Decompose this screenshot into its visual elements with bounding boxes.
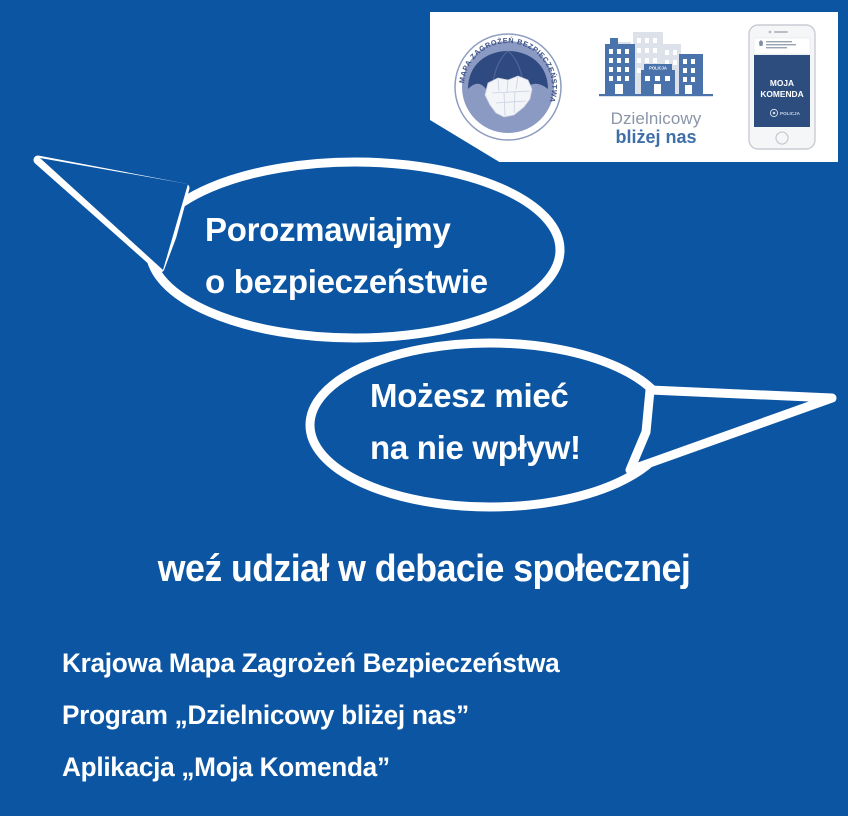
krajowa-mapa-zagrozen-logo: KRAJOWA MAPA ZAGROŻEŃ BEZPIECZEŃSTWA <box>452 31 564 143</box>
phone-title-line1: MOJA <box>770 78 794 88</box>
moja-komenda-phone: MOJA KOMENDA POLICJA <box>748 24 818 150</box>
dzielnicowy-blizej-nas-logo: POLICJA Dzielnicowy bliżej nas <box>595 24 717 150</box>
bubble-2-line2: na nie wpływ! <box>370 422 581 474</box>
program-item-2: Program „Dzielnicowy bliżej nas” <box>62 689 741 741</box>
headline: weź udział w debacie społecznej <box>25 548 822 591</box>
city-buildings-icon: POLICJA <box>597 24 715 108</box>
program-item-1: Krajowa Mapa Zagrożeń Bezpieczeństwa <box>62 637 741 689</box>
bubble-2-text: Możesz mieć na nie wpływ! <box>370 370 581 474</box>
logo-banner-content: KRAJOWA MAPA ZAGROŻEŃ BEZPIECZEŃSTWA <box>438 18 832 156</box>
program-item-3: Aplikacja „Moja Komenda” <box>62 741 741 793</box>
bubble-2-line1: Możesz mieć <box>370 370 581 422</box>
phone-title-line2: KOMENDA <box>760 89 803 99</box>
program-list: Krajowa Mapa Zagrożeń Bezpieczeństwa Pro… <box>62 637 762 793</box>
policja-sign-text: POLICJA <box>649 65 667 70</box>
bubble-1-line2: o bezpieczeństwie <box>205 256 488 308</box>
dzielnicowy-line1: Dzielnicowy <box>611 110 702 127</box>
bubble-1-text: Porozmawiajmy o bezpieczeństwie <box>205 204 488 308</box>
poster-canvas: KRAJOWA MAPA ZAGROŻEŃ BEZPIECZEŃSTWA <box>0 0 848 816</box>
bubble-1-line1: Porozmawiajmy <box>205 204 488 256</box>
phone-policja-text: POLICJA <box>780 111 801 116</box>
